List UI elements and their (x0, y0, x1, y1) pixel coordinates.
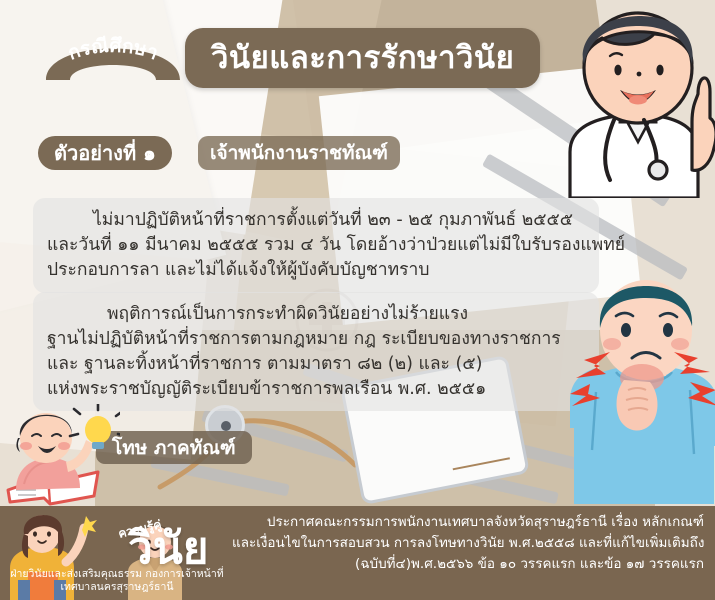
footer-brand-title: วินัย (128, 527, 209, 571)
case-facts-line: ไม่มาปฏิบัติหน้าที่ราชการตั้งแต่วันที่ ๒… (47, 208, 585, 233)
svg-text:กรณีศึกษา: กรณีศึกษา (65, 35, 161, 65)
infographic-canvas: กรณีศึกษา วินัยและการรักษาวินัย ตัวอย่าง… (0, 0, 715, 600)
signature-line (450, 442, 510, 471)
footer-reference-note: ประกาศคณะกรรมการพนักงานเทศบาลจังหวัดสุรา… (232, 512, 710, 575)
example-number-badge: ตัวอย่างที่ ๑ (38, 136, 172, 170)
kid-reading-book-idea-illustration (2, 404, 120, 508)
case-ruling-line: แห่งพระราชบัญญัติระเบียบข้าราชการพลเรือน… (47, 377, 585, 402)
sore-throat-patient-illustration (570, 268, 715, 504)
case-facts-panel: ไม่มาปฏิบัติหน้าที่ราชการตั้งแต่วันที่ ๒… (33, 198, 599, 293)
penalty-label: โทษ ภาคทัณฑ์ (112, 433, 236, 463)
footer-brand-subtitle-line1: ฝ่ายวินัยและส่งเสริมคุณธรรม กองการเจ้าหน… (4, 568, 230, 581)
case-facts-line: และวันที่ ๑๑ มีนาคม ๒๕๕๕ รวม ๔ วัน โดยอ้… (47, 233, 585, 258)
example-number-label: ตัวอย่างที่ ๑ (54, 137, 156, 169)
role-label: เจ้าพนักงานราชทัณฑ์ (210, 138, 388, 168)
footer-reference-line: และเงื่อนไขในการสอบสวน การลงโทษทางวินัย … (232, 533, 704, 554)
page-title: วินัยและการรักษาวินัย (185, 28, 540, 88)
case-study-badge: กรณีศึกษา (38, 22, 188, 84)
footer-brand-subtitle: ฝ่ายวินัยและส่งเสริมคุณธรรม กองการเจ้าหน… (4, 568, 230, 594)
role-badge: เจ้าพนักงานราชทัณฑ์ (198, 136, 400, 170)
case-study-badge-text: กรณีศึกษา (38, 22, 188, 84)
case-ruling-line: และ ฐานละทิ้งหน้าที่ราชการ ตามมาตรา ๘๒ (… (47, 352, 585, 377)
page-title-text: วินัยและการรักษาวินัย (211, 43, 514, 74)
case-facts-line: ประกอบการลา และไม่ได้แจ้งให้ผู้บังคับบัญ… (47, 258, 585, 283)
footer-reference-line: ประกาศคณะกรรมการพนักงานเทศบาลจังหวัดสุรา… (232, 512, 704, 533)
case-ruling-line: ฐานไม่ปฏิบัติหน้าที่ราชการตามกฎหมาย กฎ ร… (47, 327, 585, 352)
case-ruling-panel: พฤติการณ์เป็นการกระทำผิดวินัยอย่างไม่ร้า… (33, 292, 599, 411)
footer-brand-subtitle-line2: เทศบาลนครสุราษฎร์ธานี (4, 581, 230, 594)
case-ruling-line: พฤติการณ์เป็นการกระทำผิดวินัยอย่างไม่ร้า… (47, 302, 585, 327)
footer-reference-line: (ฉบับที่๔)พ.ศ.๒๕๖๖ ข้อ ๑๐ วรรคแรก และข้อ… (232, 554, 704, 575)
doctor-pointing-up-illustration (558, 2, 715, 198)
